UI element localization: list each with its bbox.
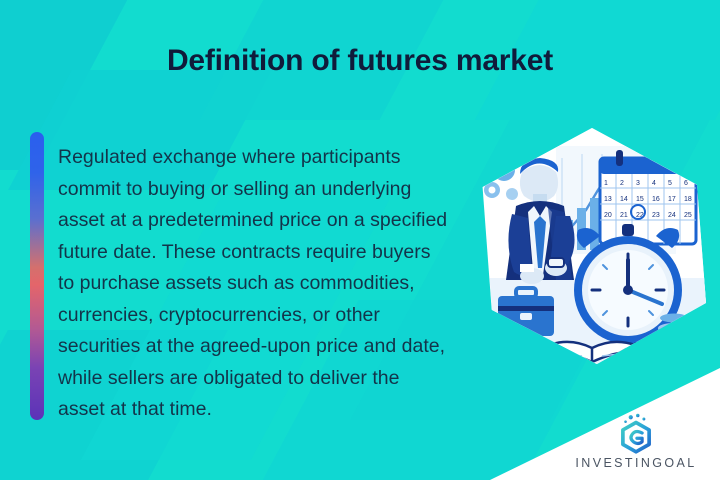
svg-text:5: 5 [668,180,672,187]
svg-text:3: 3 [636,180,640,187]
investinggoal-hexagon-g-icon [615,412,657,454]
svg-text:17: 17 [668,196,676,203]
svg-text:21: 21 [620,212,628,219]
svg-text:15: 15 [636,196,644,203]
svg-text:13: 13 [604,196,612,203]
illustration-artwork: 123 456 131415 161718 202122 232425 [478,128,706,364]
page-title: Definition of futures market [0,44,720,78]
logo-wordmark: INVESTINGOAL [566,456,706,470]
brand-logo[interactable]: INVESTINGOAL [566,412,706,470]
svg-text:1: 1 [604,180,608,187]
svg-text:25: 25 [684,212,692,219]
svg-text:2: 2 [620,180,624,187]
svg-text:14: 14 [620,196,628,203]
svg-text:18: 18 [684,196,692,203]
svg-text:6: 6 [684,180,688,187]
gradient-accent-bar [30,132,44,420]
svg-text:24: 24 [668,212,676,219]
svg-text:20: 20 [604,212,612,219]
svg-text:4: 4 [652,180,656,187]
svg-text:23: 23 [652,212,660,219]
infographic-card: Definition of futures market Regulated e… [0,0,720,480]
svg-text:16: 16 [652,196,660,203]
futures-market-illustration: 123 456 131415 161718 202122 232425 [478,128,706,364]
definition-text: Regulated exchange where participants co… [58,142,478,426]
